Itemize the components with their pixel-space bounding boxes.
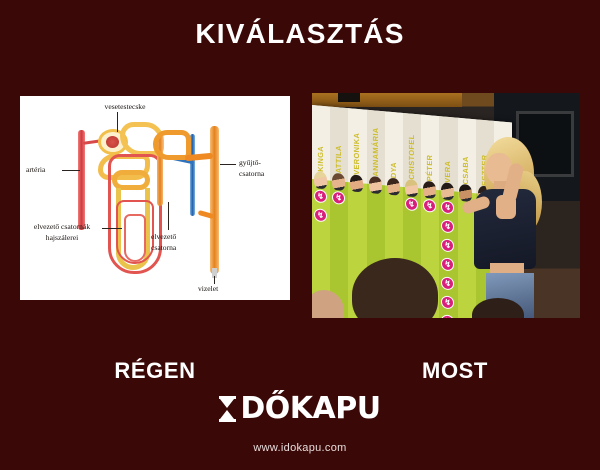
caption-regen: RÉGEN: [60, 358, 250, 384]
studio-ceiling-fixture: [338, 93, 360, 102]
vote-badge[interactable]: ↯: [314, 189, 327, 203]
contestant-photo-cristofel[interactable]: [405, 179, 418, 197]
brand-logo[interactable]: DŐKAPU: [0, 394, 600, 424]
logo-text: DŐKAPU: [240, 394, 380, 424]
contestant-photo-kinga[interactable]: [314, 171, 327, 189]
label-arteria: artéria: [26, 165, 45, 174]
vote-badge[interactable]: ↯: [423, 199, 436, 213]
nephron-illustration: vesetestecske artéria elvezető csatornák…: [20, 96, 290, 300]
collecting-duct-vessel: [210, 126, 219, 274]
label-csatorna: csatorna: [151, 243, 176, 252]
contestant-photo-attila[interactable]: [332, 173, 345, 191]
capillary-mesh-2: [124, 214, 146, 262]
label-hajszalerei: hajszálerei: [22, 233, 102, 242]
audience-head: [312, 290, 344, 318]
vote-badge[interactable]: ↯: [405, 197, 418, 211]
label-vizelet: vizelet: [198, 284, 218, 293]
audience-head: [352, 258, 438, 318]
label-vesetestecske: vesetestecske: [92, 102, 158, 111]
glomerulus-tuft: [106, 136, 119, 148]
hourglass-icon: [219, 396, 236, 422]
leader-collecting-duct: [220, 164, 236, 165]
audience-head: [472, 298, 524, 318]
contestant-name-dya[interactable]: DYA: [389, 116, 398, 179]
artery-vessel: [78, 130, 85, 230]
label-elvezeto: elvezető: [151, 232, 176, 241]
contestant-name-kinga[interactable]: KINGA: [316, 109, 325, 172]
label-elvezeto-csatornak: elvezető csatornák: [22, 222, 102, 231]
caption-most: MOST: [360, 358, 550, 384]
contestant-photo-vera[interactable]: [441, 182, 454, 200]
vote-badge[interactable]: ↯: [314, 208, 327, 222]
collecting-duct-branch-top: [185, 153, 213, 161]
contestant-photo-dya[interactable]: [387, 178, 400, 196]
label-gyujto: gyűjtő-: [239, 158, 261, 167]
contestant-name-attila[interactable]: ATTILA: [334, 111, 343, 174]
contestant-name-annamária[interactable]: ANNAMÁRIA: [371, 114, 380, 177]
website-url[interactable]: www.idokapu.com: [0, 442, 600, 454]
right-image-tv-studio: KINGAATTILAVERONIKAANNAMÁRIADYACRISTOFEL…: [312, 93, 580, 318]
vote-badge[interactable]: ↯: [332, 191, 345, 205]
contestant-photo-veronika[interactable]: [350, 174, 363, 192]
leader-artery: [62, 170, 80, 171]
label-gyujto-csatorna: csatorna: [239, 169, 264, 178]
contestant-name-péter[interactable]: PÉTER: [425, 119, 434, 182]
leader-urine: [214, 276, 215, 284]
leader-renal-corpuscle: [117, 112, 118, 132]
contestant-name-veronika[interactable]: VERONIKA: [352, 113, 361, 176]
studio-ceiling-strip: [312, 93, 462, 107]
contestant-photo-annamária[interactable]: [369, 176, 382, 194]
leader-efferent-ducts: [102, 228, 122, 229]
contestant-photo-péter[interactable]: [423, 181, 436, 199]
page-title: KIVÁLASZTÁS: [0, 18, 600, 50]
leader-efferent-duct: [168, 202, 169, 230]
left-image-nephron-diagram: vesetestecske artéria elvezető csatornák…: [20, 96, 290, 300]
contestant-name-vera[interactable]: VERA: [443, 120, 452, 183]
contestant-name-cristofel[interactable]: CRISTOFEL: [407, 117, 416, 180]
audience-foreground: [312, 258, 580, 318]
